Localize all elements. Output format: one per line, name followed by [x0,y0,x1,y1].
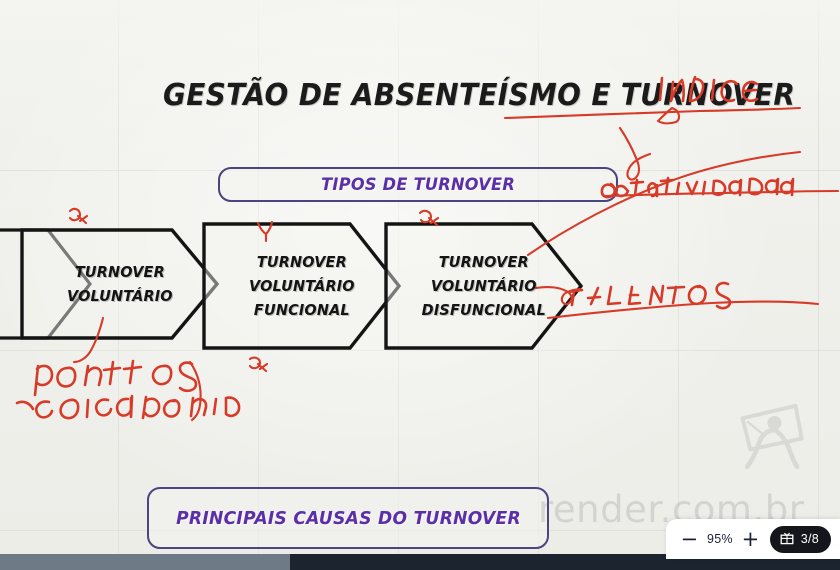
page-indicator-button[interactable]: 3/8 [770,526,831,553]
slide-viewer: GESTÃO DE ABSENTEÍSMO E TURNOVER TIPOS D… [0,0,840,570]
zoom-out-button[interactable]: − [678,526,701,552]
zoom-toolbar: − 95% + 3/8 [666,519,840,559]
arrow-box-turnover-voluntario: TURNOVER VOLUNTÁRIO [20,228,220,340]
arrow-box-turnover-voluntario-funcional: TURNOVER VOLUNTÁRIO FUNCIONAL [202,222,402,350]
page-title: GESTÃO DE ABSENTEÍSMO E TURNOVER [163,78,795,113]
arrow-box-line-3: FUNCIONAL [249,298,355,322]
arrow-box-line-2: VOLUNTÁRIO [67,284,173,308]
section-box-label: TIPOS DE TURNOVER [321,175,515,195]
page-indicator-label: 3/8 [801,532,819,546]
arrow-box-line-1: TURNOVER [67,260,173,284]
section-box-tipos-de-turnover: TIPOS DE TURNOVER [218,167,618,202]
arrow-box-label: TURNOVER VOLUNTÁRIO [67,260,173,308]
zoom-level-label: 95% [701,532,739,546]
arrow-box-turnover-voluntario-disfuncional: TURNOVER VOLUNTÁRIO DISFUNCIONAL [384,222,584,350]
arrow-box-line-1: TURNOVER [422,250,546,274]
zoom-in-button[interactable]: + [739,526,762,552]
arrow-box-line-3: DISFUNCIONAL [422,298,546,322]
section-box-principais-causas: PRINCIPAIS CAUSAS DO TURNOVER [147,487,549,549]
watermark-logo-icon [730,398,808,476]
arrow-box-line-2: VOLUNTÁRIO [422,274,546,298]
section-box-label: PRINCIPAIS CAUSAS DO TURNOVER [176,508,521,529]
arrow-box-line-2: VOLUNTÁRIO [249,274,355,298]
grid-pages-icon [780,532,794,546]
arrow-box-label: TURNOVER VOLUNTÁRIO FUNCIONAL [249,250,355,322]
arrow-box-label: TURNOVER VOLUNTÁRIO DISFUNCIONAL [422,250,546,322]
arrow-box-line-1: TURNOVER [249,250,355,274]
